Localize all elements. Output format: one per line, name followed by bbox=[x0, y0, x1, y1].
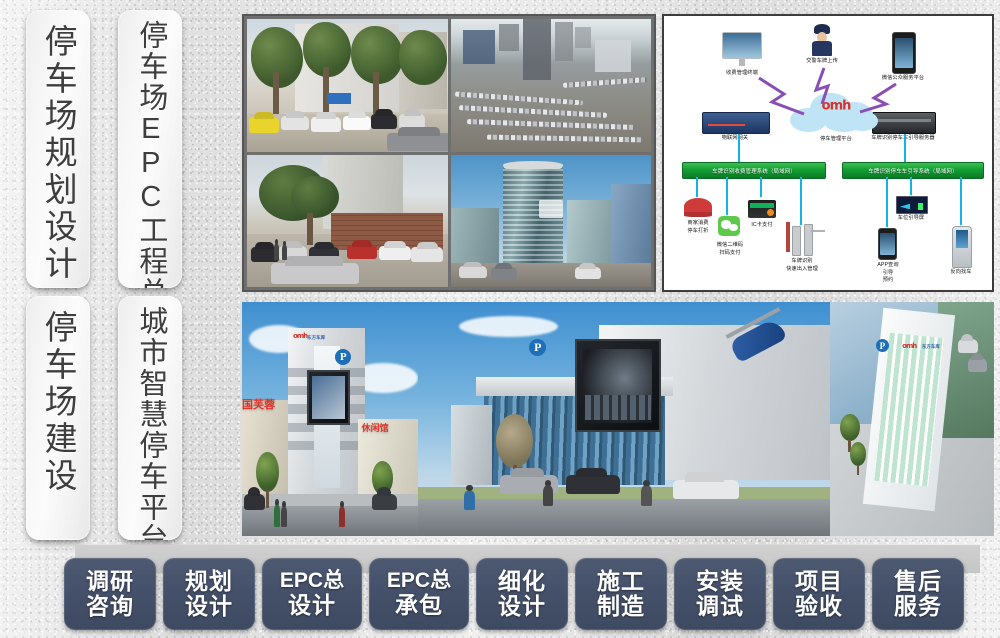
process-step-line1: EPC总 bbox=[387, 570, 451, 593]
connector-line bbox=[904, 134, 906, 162]
pedestrian bbox=[542, 480, 554, 506]
sidebar-card-parking-epc-contracting[interactable]: 停车场EPC工程总承包 bbox=[118, 10, 182, 288]
car bbox=[372, 494, 397, 510]
barrier-arm-icon bbox=[811, 230, 825, 232]
process-step-line1: 调研 bbox=[86, 569, 134, 594]
process-step-epc-general-contracting[interactable]: EPC总 承包 bbox=[369, 558, 469, 630]
pedestrian bbox=[640, 480, 652, 506]
pedestrian bbox=[274, 499, 281, 527]
kiosk-icon bbox=[952, 226, 972, 268]
sign-text-left: 国芙蓉 bbox=[242, 396, 275, 412]
pedestrian bbox=[281, 501, 288, 527]
mobile-app-icon bbox=[878, 228, 897, 260]
photo-lot-with-brick-building bbox=[247, 155, 448, 288]
omh-brand-mark: omh bbox=[293, 332, 307, 340]
merchant-discount-parking-label: 商家消费停车打折 bbox=[687, 220, 708, 235]
process-step-line2: 设计 bbox=[498, 594, 546, 619]
plate-fast-entry-exit-label: 车牌识别快速出入管理 bbox=[786, 258, 818, 273]
sidebar-card-label: 停车场规划设计 bbox=[39, 10, 77, 283]
billboard bbox=[575, 339, 661, 432]
process-step-line2: 调试 bbox=[696, 594, 744, 619]
poster-canvas: 停车场规划设计 停车场EPC工程总承包 停车场建设 城市智慧停车平台建设 bbox=[0, 0, 1000, 638]
process-step-line1: EPC总 bbox=[280, 570, 344, 593]
photo-street-parking-trees bbox=[247, 19, 448, 152]
parking-p-mark: P bbox=[335, 349, 351, 365]
pedestrian bbox=[339, 501, 346, 527]
car bbox=[968, 358, 988, 372]
connector-line bbox=[696, 177, 698, 197]
reverse-car-finding-label: 反向找车 bbox=[950, 269, 971, 277]
connector-line bbox=[760, 177, 762, 197]
process-step-planning-design[interactable]: 规划 设计 bbox=[163, 558, 255, 630]
process-step-line1: 安装 bbox=[696, 569, 744, 594]
connector-line bbox=[910, 177, 912, 195]
sidebar-card-label: 停车场EPC工程总承包 bbox=[133, 10, 167, 288]
photo-glass-office-tower bbox=[451, 155, 652, 288]
wechat-icon bbox=[718, 216, 740, 236]
car bbox=[244, 494, 265, 510]
connector-line bbox=[726, 177, 728, 215]
sign-text-right: 休闲馆 bbox=[362, 421, 389, 434]
photo-grid bbox=[244, 16, 654, 290]
led-display-icon bbox=[896, 196, 928, 214]
connector-line bbox=[960, 177, 962, 225]
car bbox=[673, 480, 739, 499]
process-step-line2: 验收 bbox=[795, 594, 843, 619]
wechat-qr-payment-label: 微信二维码扫码支付 bbox=[717, 242, 743, 257]
tree bbox=[850, 442, 866, 475]
plate-charging-system-bar[interactable]: 车牌识别收费管理系统（局域网） bbox=[682, 162, 826, 179]
project-delivery-process: 调研 咨询 规划 设计 EPC总 设计 EPC总 承包 细化 设计 施工 制造 … bbox=[64, 556, 994, 632]
process-step-line2: 咨询 bbox=[86, 594, 134, 619]
connector-line bbox=[738, 134, 740, 162]
photo-aerial-parking-lot bbox=[451, 19, 652, 152]
omh-brand-sub: 东方车库 bbox=[307, 335, 325, 341]
barrier-gate-icon bbox=[804, 224, 813, 256]
process-step-epc-overall-design[interactable]: EPC总 设计 bbox=[262, 558, 362, 630]
process-step-line2: 设计 bbox=[288, 593, 336, 618]
renderings-strip: omh 东方车库 P 国芙蓉 休闲馆 bbox=[242, 302, 994, 536]
rendering-modern-garage-billboard: omh 东方车库 P bbox=[418, 302, 830, 536]
sidebar-card-city-smart-parking-platform[interactable]: 城市智慧停车平台建设 bbox=[118, 296, 182, 540]
space-guidance-screen-label: 车位引导屏 bbox=[898, 215, 924, 223]
photo-collage-panel[interactable] bbox=[242, 14, 656, 292]
omh-brand-mark: omh bbox=[902, 342, 916, 350]
pedestrian bbox=[463, 485, 475, 511]
system-topology-panel[interactable]: 收费管理终端 交警车牌上传 微信公众服务平台 物联网网关 车牌识别停车车引导服务… bbox=[662, 14, 994, 292]
omh-brand-sub: 东方车库 bbox=[922, 344, 940, 350]
barrier-gate-icon bbox=[792, 226, 801, 256]
ic-card-payment-label: IC卡支付 bbox=[751, 222, 772, 230]
process-step-line2: 制造 bbox=[597, 594, 645, 619]
process-step-project-acceptance[interactable]: 项目 验收 bbox=[773, 558, 865, 630]
process-step-line2: 服务 bbox=[894, 594, 942, 619]
plate-charging-system-label: 车牌识别收费管理系统（局域网） bbox=[712, 167, 796, 175]
car bbox=[566, 475, 620, 494]
connector-line bbox=[886, 177, 888, 227]
connector-bolts bbox=[664, 16, 994, 292]
plate-guidance-system-label: 车牌识别停车车引导系统（局域网） bbox=[868, 167, 957, 175]
process-step-after-sales-service[interactable]: 售后 服务 bbox=[872, 558, 964, 630]
process-step-line2: 承包 bbox=[395, 593, 443, 618]
process-step-line1: 售后 bbox=[894, 569, 942, 594]
red-car-icon bbox=[684, 198, 712, 215]
process-step-detailed-design[interactable]: 细化 设计 bbox=[476, 558, 568, 630]
process-step-research-consulting[interactable]: 调研 咨询 bbox=[64, 558, 156, 630]
process-step-line1: 施工 bbox=[597, 569, 645, 594]
renderings-panel[interactable]: omh 东方车库 P 国芙蓉 休闲馆 bbox=[242, 302, 994, 536]
app-query-guidance-booking-label: APP查询引导预约 bbox=[877, 262, 898, 285]
sidebar-card-label: 停车场建设 bbox=[39, 296, 77, 495]
rendering-tower-garage-street-view: omh 东方车库 P 国芙蓉 休闲馆 bbox=[242, 302, 418, 536]
facade-wing bbox=[451, 405, 492, 485]
connector-line bbox=[800, 177, 802, 225]
plate-guidance-system-bar[interactable]: 车牌识别停车车引导系统（局域网） bbox=[842, 162, 984, 179]
process-step-line1: 项目 bbox=[795, 569, 843, 594]
sidebar-card-parking-construction[interactable]: 停车场建设 bbox=[26, 296, 90, 540]
ic-card-icon bbox=[748, 200, 776, 218]
car bbox=[958, 339, 978, 353]
process-step-line1: 规划 bbox=[185, 569, 233, 594]
sidebar-card-parking-planning-design[interactable]: 停车场规划设计 bbox=[26, 10, 90, 288]
process-step-construction-manufacturing[interactable]: 施工 制造 bbox=[575, 558, 667, 630]
billboard bbox=[307, 370, 350, 425]
sidebar-card-label: 城市智慧停车平台建设 bbox=[133, 296, 167, 540]
rendering-aerial-tower-garage: P omh 东方车库 bbox=[830, 302, 994, 536]
process-step-line1: 细化 bbox=[498, 569, 546, 594]
process-step-installation-commissioning[interactable]: 安装 调试 bbox=[674, 558, 766, 630]
process-step-line2: 设计 bbox=[185, 594, 233, 619]
barrier-pole-icon bbox=[786, 222, 790, 252]
